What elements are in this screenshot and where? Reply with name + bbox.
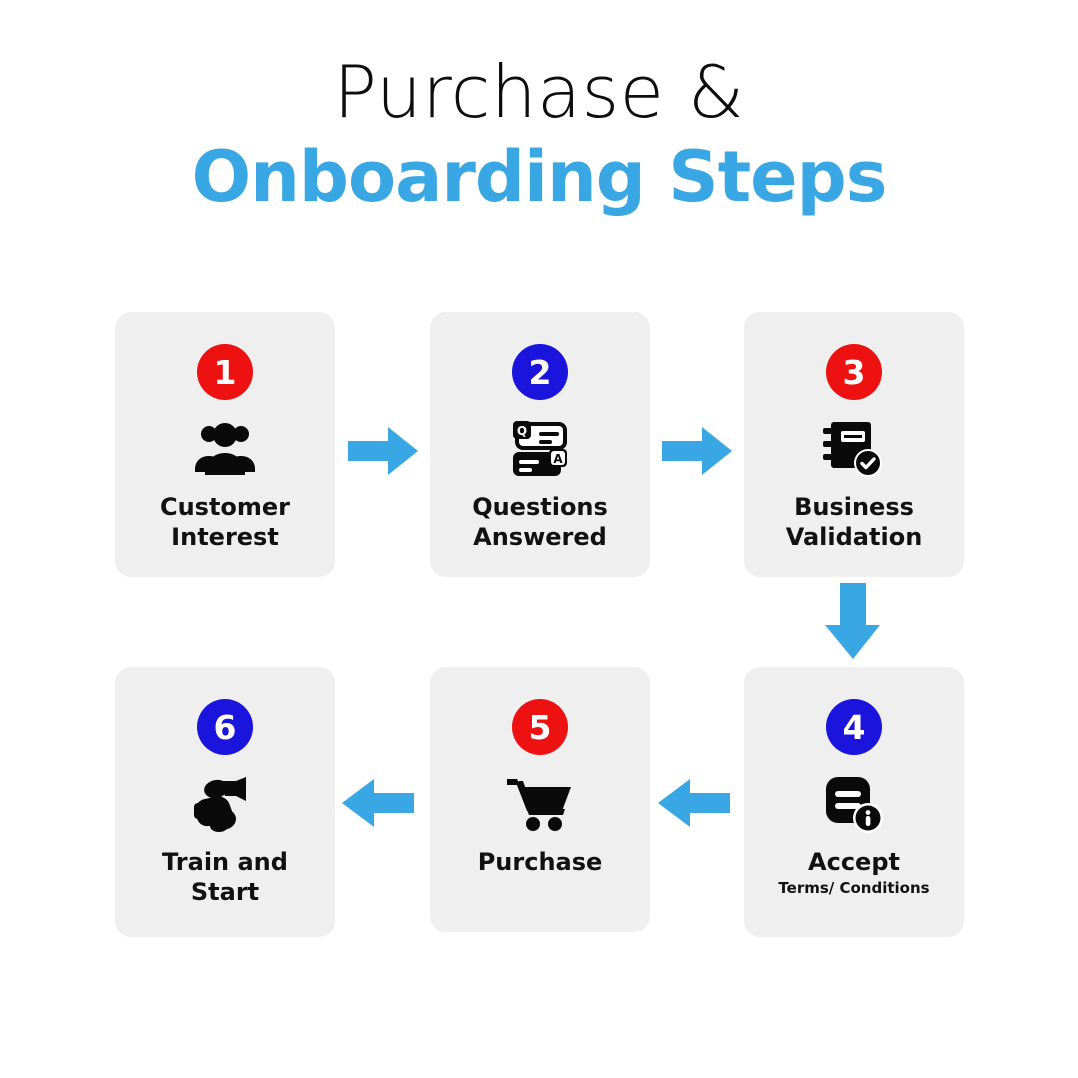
step-number-badge-4: 4 xyxy=(826,699,882,755)
step-label-2: Questions Answered xyxy=(462,492,618,552)
page-title-line-2: Onboarding Steps xyxy=(0,138,1078,216)
step-card-5[interactable]: 5 Purchase xyxy=(430,667,650,932)
step-label-1: Customer Interest xyxy=(150,492,300,552)
handshake-icon xyxy=(192,769,258,839)
step-sublabel-4: Terms/ Conditions xyxy=(778,879,929,897)
page-title-line-1: Purchase & xyxy=(0,56,1078,128)
notebook-check-icon xyxy=(823,414,885,484)
step-card-1[interactable]: 1 Customer Interest xyxy=(115,312,335,577)
step-card-6[interactable]: 6 Train and Start xyxy=(115,667,335,937)
step-card-2[interactable]: 2 Q A Questions Answe xyxy=(430,312,650,577)
step-number-badge-5: 5 xyxy=(512,699,568,755)
shopping-cart-icon xyxy=(505,769,575,839)
step-number-badge-1: 1 xyxy=(197,344,253,400)
step-number-badge-6: 6 xyxy=(197,699,253,755)
svg-text:A: A xyxy=(553,452,563,466)
step-label-4: Accept xyxy=(798,847,910,877)
steps-flow: 1 Customer Interest 2 xyxy=(0,312,1078,935)
step-card-3[interactable]: 3 Business Validati xyxy=(744,312,964,577)
step-number-badge-2: 2 xyxy=(512,344,568,400)
step-label-3: Business Validation xyxy=(776,492,933,552)
document-info-icon xyxy=(824,769,884,839)
svg-text:Q: Q xyxy=(517,424,527,438)
page-title: Purchase & Onboarding Steps xyxy=(0,56,1078,216)
question-answer-icon: Q A xyxy=(507,414,573,484)
step-card-4[interactable]: 4 Accept Terms/ Conditions xyxy=(744,667,964,937)
people-group-icon xyxy=(193,414,257,484)
step-label-6: Train and Start xyxy=(152,847,298,907)
step-label-5: Purchase xyxy=(468,847,613,877)
step-number-badge-3: 3 xyxy=(826,344,882,400)
steps-row-bottom: 6 Train and Start 5 xyxy=(0,667,1078,935)
steps-row-top: 1 Customer Interest 2 xyxy=(0,312,1078,580)
